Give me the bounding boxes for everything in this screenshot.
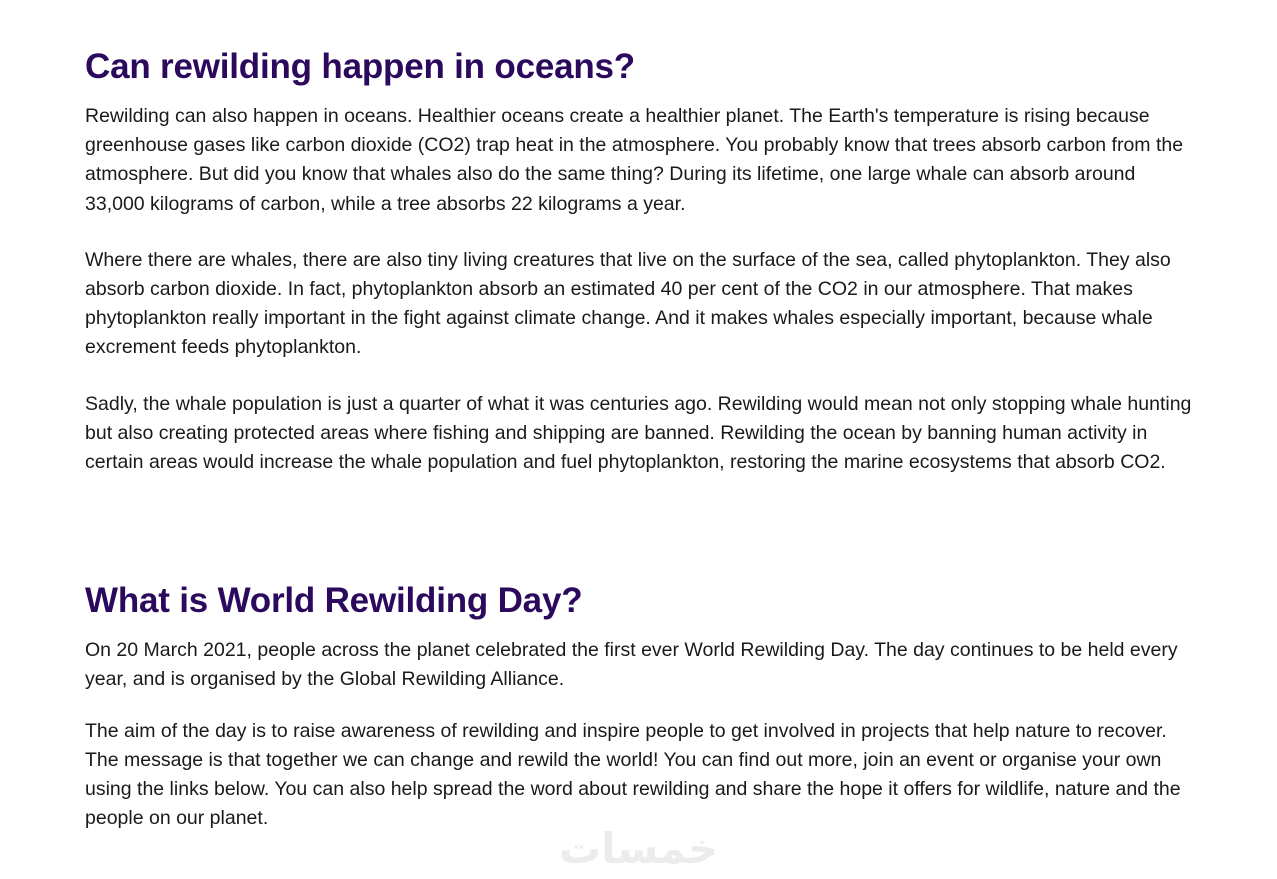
section-heading-world-rewilding-day: What is World Rewilding Day? bbox=[85, 579, 1197, 623]
article-content: Can rewilding happen in oceans? Rewildin… bbox=[85, 0, 1197, 833]
page-body: { "document": { "background_color": "#ff… bbox=[0, 0, 1277, 879]
section-divider bbox=[85, 477, 1197, 579]
paragraph-ocean-rewilding-intro: Rewilding can also happen in oceans. Hea… bbox=[85, 102, 1197, 219]
paragraph-world-rewilding-day-origin: On 20 March 2021, people across the plan… bbox=[85, 636, 1197, 694]
paragraph-whale-population: Sadly, the whale population is just a qu… bbox=[85, 390, 1197, 478]
paragraph-phytoplankton: Where there are whales, there are also t… bbox=[85, 246, 1197, 363]
section-heading-oceans: Can rewilding happen in oceans? bbox=[85, 45, 1197, 89]
paragraph-aim-of-the-day: The aim of the day is to raise awareness… bbox=[85, 717, 1197, 834]
